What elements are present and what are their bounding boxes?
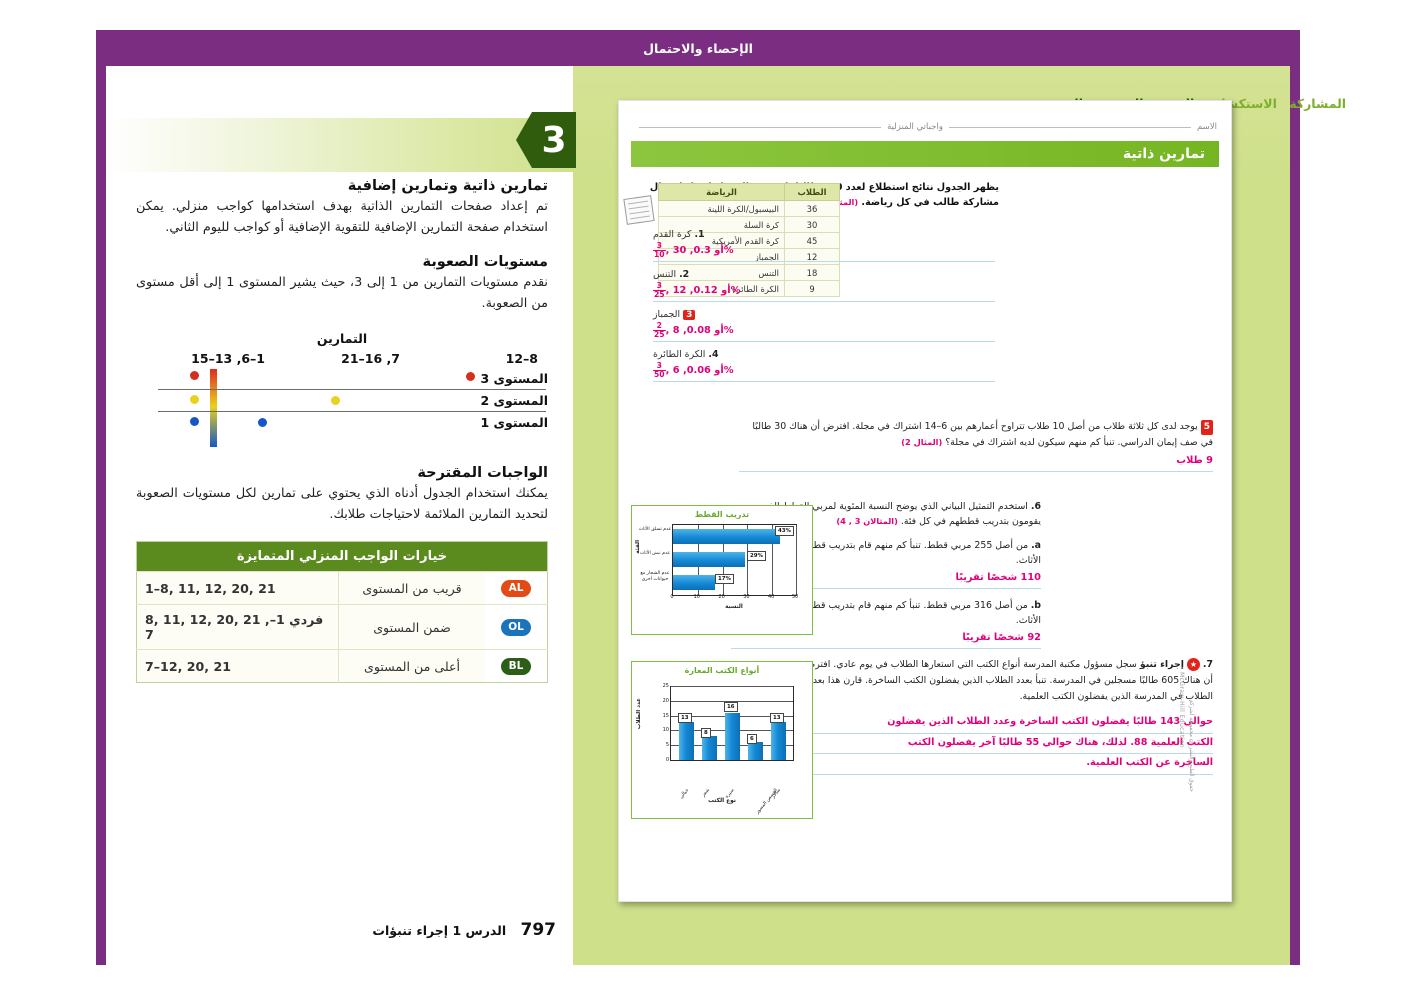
question-5-text: يوجد لدى كل ثلاثة طلاب من أصل 10 طلاب تت…	[752, 421, 1213, 448]
section-number-badge: 3	[532, 112, 576, 168]
text-self-exercises: تم إعداد صفحات التمارين الذاتية بهدف است…	[136, 197, 548, 238]
bar-2: عدم الشجار مع حيوانات أخرى	[673, 575, 715, 590]
table-row: OL ضمن المستوى 8, 11, 12, 20, 21 ,فردي 1…	[137, 605, 548, 650]
worksheet-name-row: الاسم واجباتي المنزلية	[633, 119, 1217, 135]
book-types-chart: أنواع الكتب المعارة عدد الطلاب 13 8 16 6…	[631, 661, 813, 819]
question-5-ref: (المثال 2)	[901, 437, 942, 447]
question-6-number: 6.	[1031, 501, 1041, 512]
question-6-ref: (المثالان 3 , 4)	[836, 516, 897, 526]
level-label-3: المستوى 3	[480, 371, 548, 386]
footer-lesson-text: الدرس 1 إجراء تنبؤات	[372, 923, 506, 938]
levels-exercises-3: 8–12	[506, 351, 538, 366]
vbar-4	[771, 722, 786, 761]
question-6a-label: a.	[1031, 540, 1041, 551]
cat-training-chart: تدريب القطط الفئة عدم تسلق الأثاث عدم نب…	[631, 505, 813, 635]
question-2-decimal: 0.12,	[690, 285, 718, 296]
question-4-answer: 3 50 , أو 0.06, 6%	[653, 362, 995, 382]
question-4-text: الكرة الطائرة	[653, 349, 705, 360]
q2-den: 25	[653, 291, 666, 299]
vbar-1-value: 8	[701, 728, 711, 738]
homework-label: واجباتي المنزلية	[887, 122, 943, 132]
page-number: 797	[521, 920, 557, 940]
table-row: AL قريب من المستوى 1–8, 11, 12, 20, 21	[137, 572, 548, 605]
question-1-text: كرة القدم	[653, 229, 691, 240]
question-3-answer: 2 25 , أو 0.08, 8%	[653, 322, 995, 342]
chapter-band: الإحصاء والاحتمال	[96, 30, 1300, 66]
level-dot-2	[331, 396, 340, 405]
question-1-decimal: 0.3,	[690, 245, 711, 256]
question-5: 5 يوجد لدى كل ثلاثة طلاب من أصل 10 طلاب …	[739, 419, 1213, 472]
question-2-or: أو	[721, 285, 730, 296]
question-4: 4. الكرة الطائرة 3 50 , أو 0.06, 6%	[653, 349, 995, 382]
book-types-plot: 13 8 16 6 13 25 20 15 10 5 0 خيالي شعر س…	[670, 686, 794, 761]
levels-exercises-1: 1–6, 13–15	[191, 351, 265, 366]
question-1: 1. كرة القدم 3 10 , أو 0.3, 30%	[653, 229, 995, 262]
textbook-page: الإحصاء والاحتمال المشاركة الاستكشاف الش…	[0, 0, 1403, 992]
xtick-2: 20	[718, 594, 724, 600]
text-suggested-homework: يمكنك استخدام الجدول أدناه الذي يحتوي عل…	[136, 484, 548, 525]
question-3-text: الجمباز	[653, 309, 680, 320]
vbar-2-value: 16	[724, 702, 738, 712]
bar-0-category: عدم تسلق الأثاث	[637, 527, 673, 533]
page-footer: 797 الدرس 1 إجراء تنبؤات	[136, 920, 556, 940]
question-4-fraction: 3 50	[653, 362, 666, 379]
badge-cell-al: AL	[485, 572, 548, 605]
bar-1-category: عدم نبش الأثاث	[637, 551, 673, 557]
level-marker-3-anchor	[190, 371, 199, 380]
q1-den: 10	[653, 251, 666, 259]
bar-2-value: 17%	[715, 574, 734, 584]
levels-caption: التمارين	[136, 331, 548, 346]
question-6b-label: b.	[1031, 600, 1041, 611]
badge-al: AL	[501, 580, 531, 597]
book-types-yaxis: 25 20 15 10 5 0	[657, 681, 671, 765]
sports-th-students: الطلاب	[785, 184, 840, 201]
ytick-15: 15	[663, 713, 669, 719]
badge-bl: BL	[501, 658, 531, 675]
xtick-1: 10	[694, 594, 700, 600]
vbar-0	[679, 722, 694, 761]
xtick-0: 0	[670, 594, 673, 600]
question-1-or: أو	[714, 245, 723, 256]
question-7-answer: حوالي 143 طالبًا يفضلون الكتب الساخرة وع…	[793, 713, 1213, 777]
level-marker-1-anchor	[190, 417, 199, 426]
question-4-number: 4.	[708, 349, 718, 360]
ytick-10: 10	[663, 727, 669, 733]
book-types-chart-title: أنواع الكتب المعارة	[632, 662, 812, 675]
heading-suggested-homework: الواجبات المقترحة	[136, 465, 548, 481]
level-dot-1	[258, 418, 267, 427]
question-3-or: أو	[714, 325, 723, 336]
copyright-text: McGraw-Hill Education	[1178, 672, 1185, 748]
question-1-number: 1.	[694, 229, 704, 240]
name-rule-left	[949, 127, 1191, 128]
question-7-number: 7.	[1203, 659, 1213, 670]
vbar-3-value: 6	[747, 734, 757, 744]
question-3-number: 3	[683, 310, 695, 320]
homework-options-table: خيارات الواجب المنزلي المتمايزة AL قريب …	[136, 541, 548, 683]
level-name-bl: أعلى من المستوى	[339, 650, 486, 683]
question-1-answer: 3 10 , أو 0.3, 30%	[653, 242, 995, 262]
sports-students-0: 36	[785, 201, 840, 217]
name-label: الاسم	[1197, 122, 1217, 132]
badge-cell-ol: OL	[485, 605, 548, 650]
xtick-5: 50	[792, 594, 798, 600]
vbar-4-value: 13	[770, 713, 784, 723]
question-3: 3 الجمباز 2 25 , أو 0.08, 8%	[653, 309, 995, 342]
question-2-answer: 3 25 , أو 0.12, 12%	[653, 282, 995, 302]
exercises-ol: 8, 11, 12, 20, 21 ,فردي 1–7	[137, 605, 339, 650]
lesson-title-strip	[106, 118, 573, 172]
badge-ol: OL	[501, 619, 531, 636]
copyright-text-arabic: حقوق الطبع والنشر © محفوظة لشركة	[1188, 700, 1194, 792]
cat-training-chart-title: تدريب القطط	[632, 506, 812, 519]
question-7-answer-line-2: الكتب العلمية 88. لذلك، هناك حوالي 55 طا…	[793, 734, 1213, 755]
level-name-ol: ضمن المستوى	[339, 605, 486, 650]
worksheet-title-bar: تمارين ذاتية	[631, 141, 1219, 167]
tab-mosharaka[interactable]: المشاركة	[1289, 96, 1346, 111]
question-1-head: 1. كرة القدم	[653, 229, 995, 240]
heading-difficulty-levels: مستويات الصعوبة	[136, 254, 548, 270]
question-7-tag: إجراء تنبؤ	[1140, 659, 1184, 670]
question-2-number: 2.	[679, 269, 689, 280]
question-4-or: أو	[714, 365, 723, 376]
gridline-25	[671, 686, 793, 687]
level-gradient-bar	[210, 369, 217, 447]
xtick-3: 30	[743, 594, 749, 600]
sports-name-0: البيسبول/الكرة اللينة	[659, 201, 785, 217]
level-label-1: المستوى 1	[480, 415, 548, 430]
text-difficulty-levels: نقدم مستويات التمارين من 1 إلى 3، حيث يش…	[136, 273, 548, 314]
vbar-1	[702, 736, 717, 760]
question-2: 2. التنس 3 25 , أو 0.12, 12%	[653, 269, 995, 302]
question-7: 7. ★ إجراء تنبؤ سجل مسؤول مكتبة المدرسة …	[793, 657, 1213, 777]
question-1-fraction: 3 10	[653, 242, 666, 259]
level-marker-2-anchor	[190, 395, 199, 404]
xtick-4: 40	[768, 594, 774, 600]
vbar-1-category: شعر	[701, 788, 711, 798]
level-label-2: المستوى 2	[480, 393, 548, 408]
question-5-answer: 9 طلاب	[739, 453, 1213, 472]
section-number: 3	[532, 112, 576, 168]
question-2-text: التنس	[653, 269, 676, 280]
badge-cell-bl: BL	[485, 650, 548, 683]
book-types-xlabel: نوع الكتب	[632, 798, 812, 804]
left-column-body: تمارين ذاتية وتمارين إضافية تم إعداد صفح…	[136, 178, 548, 683]
level-divider-bottom	[158, 411, 546, 412]
bar-2-category: عدم الشجار مع حيوانات أخرى	[637, 571, 673, 582]
bar-0: عدم تسلق الأثاث	[673, 529, 780, 544]
note-paper-icon	[623, 195, 654, 225]
question-3-decimal: 0.08,	[683, 325, 711, 336]
question-3-head: 3 الجمباز	[653, 309, 995, 320]
question-4-head: 4. الكرة الطائرة	[653, 349, 995, 360]
table-row: BL أعلى من المستوى 7–12, 20, 21	[137, 650, 548, 683]
questions-1-4: 1. كرة القدم 3 10 , أو 0.3, 30% 2. التنس	[653, 229, 995, 389]
bar-0-value: 43%	[775, 526, 794, 536]
question-4-decimal: 0.06,	[683, 365, 711, 376]
heading-self-exercises: تمارين ذاتية وتمارين إضافية	[136, 178, 548, 194]
vbar-2	[725, 713, 740, 760]
level-divider-top	[158, 389, 546, 390]
ytick-5: 5	[666, 742, 669, 748]
cat-training-plot: عدم تسلق الأثاث عدم نبش الأثاث عدم الشجا…	[672, 524, 797, 596]
worksheet-title: تمارين ذاتية	[1123, 141, 1205, 167]
page-right-edge	[1290, 30, 1300, 965]
homework-table-header: خيارات الواجب المنزلي المتمايزة	[137, 542, 548, 572]
page-left-edge	[96, 30, 106, 965]
cat-training-xlabel: النسبة	[672, 604, 796, 610]
q3-den: 25	[653, 331, 666, 339]
ytick-25: 25	[663, 683, 669, 689]
sports-th-sport: الرياضة	[659, 184, 785, 201]
q4-den: 50	[653, 371, 666, 379]
chapter-band-title: الإحصاء والاحتمال	[96, 30, 1300, 66]
question-5-number: 5	[1201, 420, 1213, 435]
question-7-answer-line-1: حوالي 143 طالبًا يفضلون الكتب الساخرة وع…	[793, 713, 1213, 734]
table-row: 36 البيسبول/الكرة اللينة	[659, 201, 840, 217]
ytick-0: 0	[666, 757, 669, 763]
name-rule-right	[639, 127, 881, 128]
question-2-head: 2. التنس	[653, 269, 995, 280]
question-3-fraction: 2 25	[653, 322, 666, 339]
book-types-ylabel: عدد الطلاب	[636, 698, 642, 729]
worksheet-sheet: الاسم واجباتي المنزلية تمارين ذاتية يظهر…	[618, 100, 1232, 902]
vbar-3	[748, 742, 763, 760]
question-2-fraction: 3 25	[653, 282, 666, 299]
bar-1-value: 29%	[747, 551, 766, 561]
star-icon: ★	[1187, 658, 1200, 671]
levels-exercises-2: 7, 16–21	[341, 351, 400, 366]
level-name-al: قريب من المستوى	[339, 572, 486, 605]
exercises-al: 1–8, 11, 12, 20, 21	[137, 572, 339, 605]
level-dot-3	[466, 372, 475, 381]
vbar-0-value: 13	[678, 713, 692, 723]
question-7-answer-line-3: الساخرة عن الكتب العلمية.	[793, 754, 1213, 775]
bar-1: عدم نبش الأثاث	[673, 552, 745, 567]
difficulty-levels-figure: التمارين 8–12 7, 16–21 1–6, 13–15 المستو…	[136, 331, 548, 451]
exercises-bl: 7–12, 20, 21	[137, 650, 339, 683]
gridline-50	[796, 525, 797, 595]
ytick-20: 20	[663, 698, 669, 704]
